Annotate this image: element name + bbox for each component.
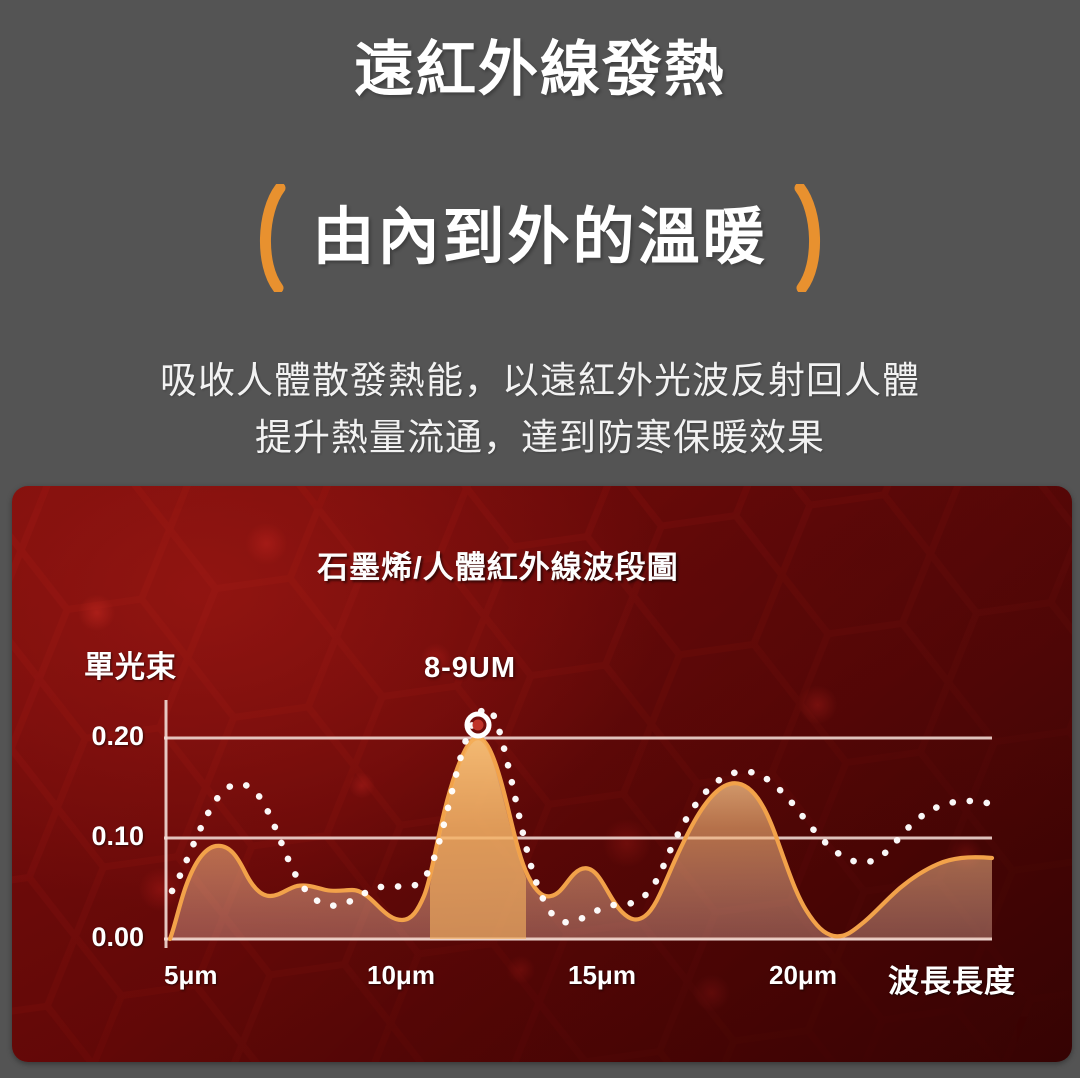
right-paren-icon [794, 184, 828, 292]
y-axis-label: 單光束 [84, 642, 177, 686]
description-line-2: 提升熱量流通，達到防寒保暖效果 [0, 409, 1080, 466]
peak-annotation-label: 8-9UM [424, 652, 516, 685]
y-tick-1: 0.10 [34, 821, 144, 852]
page-subtitle: 由內到外的溫暖 [312, 207, 767, 269]
subtitle-row: 由內到外的溫暖 [0, 178, 1080, 298]
x-tick-1: 10μm [367, 960, 435, 991]
left-paren-icon [252, 184, 286, 292]
description-text: 吸收人體散發熱能，以遠紅外光波反射回人體 提升熱量流通，達到防寒保暖效果 [0, 352, 1080, 467]
y-tick-2: 0.00 [34, 922, 144, 953]
page-title: 遠紅外線發熱 [0, 38, 1080, 101]
x-tick-0: 5μm [164, 960, 218, 991]
x-tick-2: 15μm [568, 960, 636, 991]
y-tick-0: 0.20 [34, 721, 144, 752]
description-line-1: 吸收人體散發熱能，以遠紅外光波反射回人體 [0, 352, 1080, 409]
x-axis-label: 波長長度 [888, 956, 1016, 1001]
chart-panel: 石墨烯/人體紅外線波段圖 [12, 486, 1072, 1062]
peak-highlight [430, 734, 526, 939]
infographic-page: 遠紅外線發熱 由內到外的溫暖 吸收人體散發熱能，以遠紅外光波反射回人體 提升熱量… [0, 0, 1080, 1078]
x-tick-3: 20μm [769, 960, 837, 991]
